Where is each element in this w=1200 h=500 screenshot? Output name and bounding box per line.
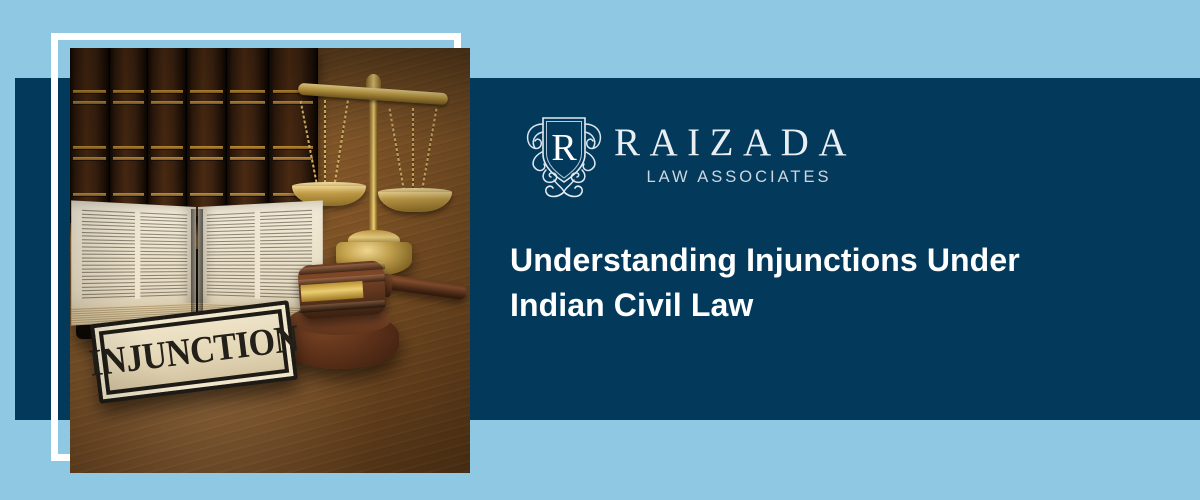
brand-logo[interactable]: R	[510, 108, 1110, 200]
brand-name: RAIZADA	[614, 123, 856, 163]
leather-law-books-icon	[70, 48, 318, 223]
svg-text:R: R	[551, 127, 577, 169]
article-hero-banner: INJUNCTION R	[0, 0, 1200, 500]
flourish-ornament-icon	[546, 186, 582, 196]
hero-content: R	[510, 108, 1110, 329]
injunction-sign-label: INJUNCTION	[87, 318, 301, 386]
page-title: Understanding Injunctions Under Indian C…	[510, 238, 1090, 329]
gavel-icon	[275, 253, 470, 403]
brand-subtitle: LAW ASSOCIATES	[614, 168, 856, 187]
shield-monogram-icon: R	[510, 108, 618, 200]
hero-photo: INJUNCTION	[70, 48, 470, 473]
